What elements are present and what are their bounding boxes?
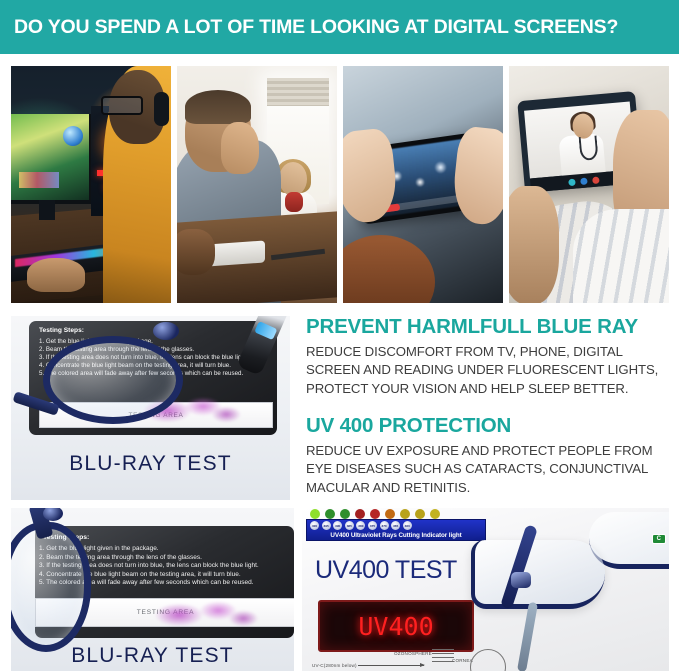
uv-led-indicator xyxy=(355,509,365,519)
uv-led-readout-value: UV400 xyxy=(358,614,433,639)
testing-area-strip: TESTING AREA xyxy=(35,598,294,627)
testing-area-strip: TESTING AREA xyxy=(39,402,273,428)
uv-led-indicator xyxy=(400,509,410,519)
gaming-monitor xyxy=(11,114,92,204)
striped-shirt xyxy=(573,209,669,303)
hand-on-keyboard xyxy=(27,258,85,292)
heading-uv400-protection: UV 400 PROTECTION xyxy=(306,415,669,438)
uv-penetration-diagram: OZONOSPHERE CORNEA UV-C(280nm below) xyxy=(302,645,669,671)
banner-title: DO YOU SPEND A LOT OF TIME LOOKING AT DI… xyxy=(0,16,618,39)
testing-step: 4. Concentrate the blue light beam on th… xyxy=(39,571,263,580)
uv-indicator-assembly: 400 395 390 385 380 375 370 365 360 UV40… xyxy=(306,508,484,538)
headset-icon xyxy=(154,92,169,126)
photo-hands-holding-smartphone-video xyxy=(343,66,503,303)
uv-status-badge: C xyxy=(652,534,666,544)
coworker-head xyxy=(279,162,307,196)
uv-led-indicator xyxy=(415,509,425,519)
middle-section: Testing Steps: 1. Get the blue light giv… xyxy=(11,316,669,500)
glasses-hinge xyxy=(511,572,531,588)
uv-led-indicator xyxy=(430,509,440,519)
photo-person-on-tablet-video-call-doctor xyxy=(509,66,669,303)
testing-steps-list: 1. Get the blue light given in the packa… xyxy=(39,338,251,378)
testing-step: 1. Get the blue light given in the packa… xyxy=(39,545,263,554)
uv400-glasses xyxy=(465,510,669,630)
uv-led-indicator xyxy=(370,509,380,519)
end-call-icon xyxy=(592,176,600,184)
uv-wavelength-marker: 380 xyxy=(356,521,365,530)
body-uv400-protection: REDUCE UV EXPOSURE AND PROTECT PEOPLE FR… xyxy=(306,442,669,498)
testing-step: 3. If the testing area does not turn int… xyxy=(39,354,251,362)
glasses-lens-near xyxy=(471,540,605,609)
photo-tired-man-rubbing-eyes-office xyxy=(177,66,337,303)
uv-wavelength-marker: 365 xyxy=(391,521,400,530)
diagram-label-uvc: UV-C(280nm below) xyxy=(312,663,357,668)
uv-wavelength-marker: 385 xyxy=(345,521,354,530)
uv-led-indicator xyxy=(325,509,335,519)
bluray-test-card-top: Testing Steps: 1. Get the blue light giv… xyxy=(11,316,290,500)
uv400-test-title: UV400 TEST xyxy=(315,556,457,585)
testing-step: 1. Get the blue light given in the packa… xyxy=(39,338,251,346)
testing-step: 5. The colored area will fade away after… xyxy=(39,370,251,378)
uv-wavelength-marker: 360 xyxy=(403,521,412,530)
call-control-icon xyxy=(580,177,588,185)
diagram-ozone-hatch xyxy=(432,649,454,665)
testing-step: 2. Beam the testing area through the len… xyxy=(39,554,263,563)
photo-strip xyxy=(11,66,669,303)
header-banner: DO YOU SPEND A LOT OF TIME LOOKING AT DI… xyxy=(0,0,679,54)
uv-led-indicator xyxy=(310,509,320,519)
glasses-temple xyxy=(500,524,538,609)
bluray-test-card-bottom: Testing Steps: 1. Get the blue light giv… xyxy=(11,508,294,671)
uv-wavelength-row: 400 395 390 385 380 375 370 365 360 xyxy=(310,521,483,530)
uv-wavelength-marker: 400 xyxy=(310,521,319,530)
testing-steps-list: 1. Get the blue light given in the packa… xyxy=(39,545,263,588)
uv-led-indicator xyxy=(340,509,350,519)
game-hud xyxy=(19,172,59,188)
body-prevent-blue-ray: REDUCE DISCOMFORT FROM TV, PHONE, DIGITA… xyxy=(306,343,669,399)
bluray-test-label: BLU-RAY TEST xyxy=(11,644,294,668)
viewer-head xyxy=(343,235,435,303)
coworker-scarf xyxy=(285,192,303,212)
uv400-test-panel: 400 395 390 385 380 375 370 365 360 UV40… xyxy=(302,508,669,671)
man-hand-on-face xyxy=(221,122,259,174)
window-blind xyxy=(267,78,329,106)
call-control-icon xyxy=(568,178,576,186)
testing-step: 3. If the testing area does not turn int… xyxy=(39,562,263,571)
man-hair xyxy=(185,90,251,124)
testing-step: 2. Beam the testing area through the len… xyxy=(39,346,251,354)
game-orb-icon xyxy=(63,126,83,146)
testing-steps-title: Testing Steps: xyxy=(43,534,89,541)
bottom-section: Testing Steps: 1. Get the blue light giv… xyxy=(11,508,669,671)
testing-step: 4. Concentrate the blue light beam on th… xyxy=(39,362,251,370)
uv-wavelength-marker: 370 xyxy=(380,521,389,530)
uv-strip-caption: UV400 Ultraviolet Rays Cutting Indicator… xyxy=(307,532,485,539)
uv-led-row xyxy=(310,508,484,519)
uv-indicator-strip: 400 395 390 385 380 375 370 365 360 UV40… xyxy=(306,519,486,541)
diagram-eye-outline xyxy=(470,649,506,671)
supporting-arm xyxy=(509,186,559,303)
uv-wavelength-marker: 375 xyxy=(368,521,377,530)
eyeglasses-icon xyxy=(101,96,143,115)
diagram-label-ozonosphere: OZONOSPHERE xyxy=(394,651,432,656)
testing-step: 5. The colored area will fade away after… xyxy=(39,579,263,588)
uv-wavelength-marker: 390 xyxy=(333,521,342,530)
foreground-hand xyxy=(177,229,215,275)
diagram-uv-ray-arrow xyxy=(358,665,424,666)
photo-gamer-at-rgb-computer-desk xyxy=(11,66,171,303)
monitor-stand xyxy=(39,200,55,220)
bluray-test-label: BLU-RAY TEST xyxy=(11,452,290,476)
glasses-hinge xyxy=(43,508,63,521)
testing-steps-title: Testing Steps: xyxy=(39,327,84,334)
uv-led-indicator xyxy=(385,509,395,519)
feature-copy-column: PREVENT HARMLFULL BLUE RAY REDUCE DISCOM… xyxy=(298,316,669,500)
heading-prevent-blue-ray: PREVENT HARMLFULL BLUE RAY xyxy=(306,316,669,339)
uv-wavelength-marker: 395 xyxy=(322,521,331,530)
